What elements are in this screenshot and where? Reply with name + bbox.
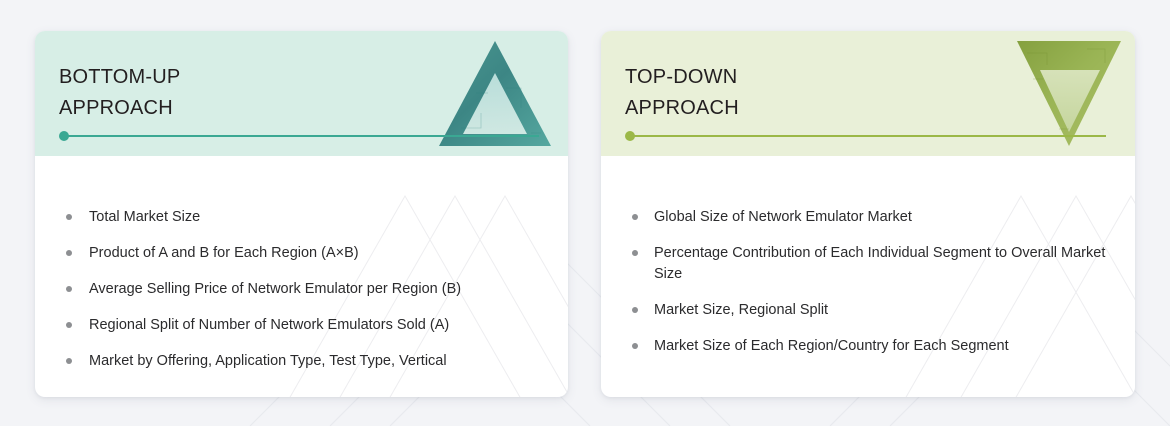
top-down-header: TOP-DOWN APPROACH bbox=[601, 31, 1135, 156]
bullet-dot-icon bbox=[66, 286, 72, 292]
bullet-dot-icon bbox=[66, 322, 72, 328]
list-item-label: Total Market Size bbox=[89, 207, 200, 228]
approach-comparison: BOTTOM-UP APPROACH Total Market Size Pro… bbox=[0, 0, 1170, 426]
bottom-up-header: BOTTOM-UP APPROACH bbox=[35, 31, 568, 156]
list-item[interactable]: Product of A and B for Each Region (A×B) bbox=[66, 243, 540, 264]
list-item-label: Percentage Contribution of Each Individu… bbox=[654, 243, 1107, 285]
header-rule bbox=[625, 131, 1106, 141]
list-item-label: Regional Split of Number of Network Emul… bbox=[89, 315, 449, 336]
card-title: TOP-DOWN APPROACH bbox=[625, 62, 739, 124]
list-item[interactable]: Total Market Size bbox=[66, 207, 540, 228]
bottom-up-bullet-list: Total Market Size Product of A and B for… bbox=[35, 156, 568, 372]
bullet-dot-icon bbox=[66, 250, 72, 256]
list-item-label: Market Size, Regional Split bbox=[654, 300, 828, 321]
list-item-label: Average Selling Price of Network Emulato… bbox=[89, 279, 461, 300]
bullet-dot-icon bbox=[632, 250, 638, 256]
bullet-dot-icon bbox=[632, 343, 638, 349]
list-item-label: Market by Offering, Application Type, Te… bbox=[89, 351, 447, 372]
list-item-label: Product of A and B for Each Region (A×B) bbox=[89, 243, 359, 264]
rule-line bbox=[68, 135, 539, 137]
card-title: BOTTOM-UP APPROACH bbox=[59, 62, 180, 124]
bullet-dot-icon bbox=[66, 214, 72, 220]
bullet-dot-icon bbox=[66, 358, 72, 364]
list-item[interactable]: Regional Split of Number of Network Emul… bbox=[66, 315, 540, 336]
list-item-label: Global Size of Network Emulator Market bbox=[654, 207, 912, 228]
top-down-bullet-list: Global Size of Network Emulator Market P… bbox=[601, 156, 1135, 357]
bullet-dot-icon bbox=[632, 307, 638, 313]
list-item[interactable]: Percentage Contribution of Each Individu… bbox=[632, 243, 1107, 285]
list-item[interactable]: Market Size of Each Region/Country for E… bbox=[632, 336, 1107, 357]
list-item[interactable]: Market by Offering, Application Type, Te… bbox=[66, 351, 540, 372]
header-rule bbox=[59, 131, 539, 141]
list-item[interactable]: Average Selling Price of Network Emulato… bbox=[66, 279, 540, 300]
list-item-label: Market Size of Each Region/Country for E… bbox=[654, 336, 1009, 357]
top-down-approach-card[interactable]: TOP-DOWN APPROACH Global Size of Network… bbox=[601, 31, 1135, 397]
list-item[interactable]: Market Size, Regional Split bbox=[632, 300, 1107, 321]
bottom-up-approach-card[interactable]: BOTTOM-UP APPROACH Total Market Size Pro… bbox=[35, 31, 568, 397]
rule-line bbox=[634, 135, 1106, 137]
bullet-dot-icon bbox=[632, 214, 638, 220]
list-item[interactable]: Global Size of Network Emulator Market bbox=[632, 207, 1107, 228]
